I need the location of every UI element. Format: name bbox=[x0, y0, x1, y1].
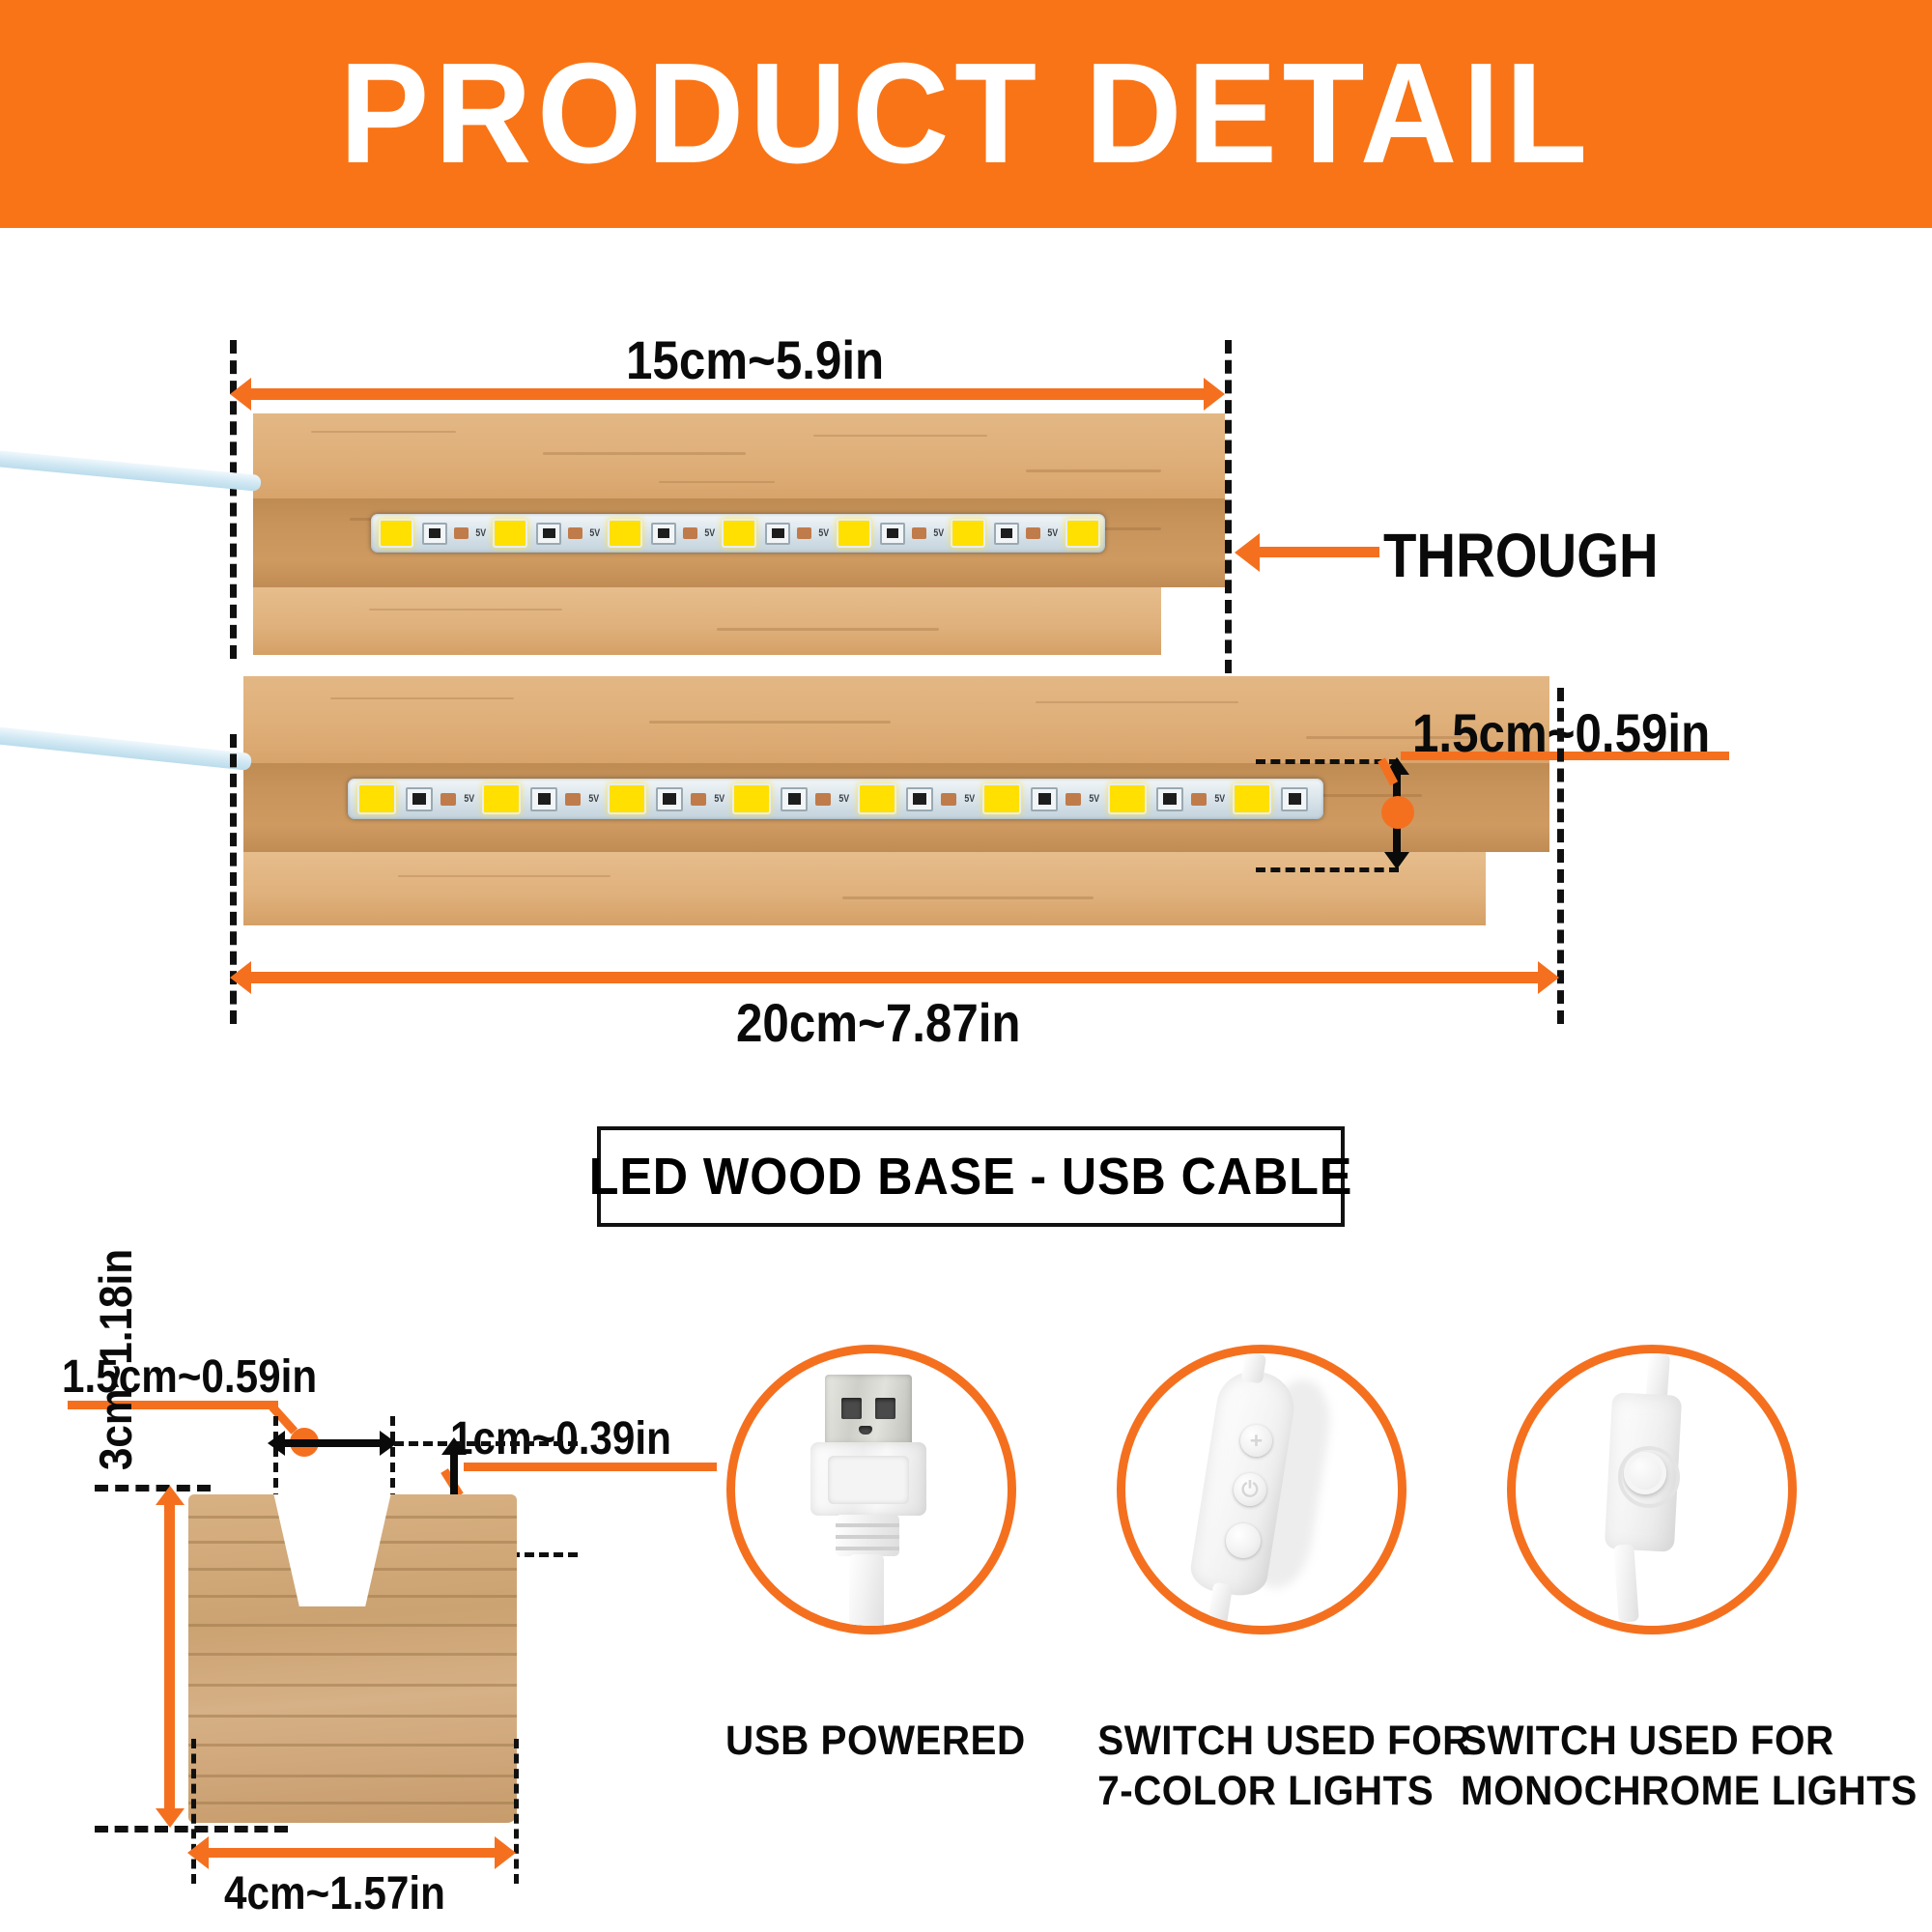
dimension-arrow-height bbox=[164, 1503, 175, 1810]
guide-groove-left bbox=[273, 1416, 278, 1503]
dimension-label-depth-1cm: 1cm~0.39in bbox=[450, 1412, 671, 1465]
leader-dot-groove-depth bbox=[1381, 796, 1414, 829]
dimension-label-top-length: 15cm~5.9in bbox=[626, 328, 884, 391]
dimension-arrow-bottom-length bbox=[249, 972, 1540, 983]
switch-button-ring bbox=[1618, 1446, 1680, 1508]
color-mode-button[interactable] bbox=[1226, 1523, 1261, 1558]
wood-grain-top bbox=[253, 413, 1225, 498]
dimension-label-width: 4cm~1.57in bbox=[224, 1867, 445, 1920]
switch-cord-bottom bbox=[1613, 1544, 1639, 1622]
plus-icon: + bbox=[1240, 1425, 1272, 1457]
guide-line-right-top bbox=[1225, 340, 1232, 673]
usb-contact-slot-left bbox=[841, 1398, 862, 1419]
feature-circle-monochrome bbox=[1507, 1345, 1797, 1634]
feature-circle-7color: + ⏻ bbox=[1117, 1345, 1406, 1634]
usb-cord bbox=[849, 1554, 884, 1632]
dimension-arrow-groove-width bbox=[282, 1439, 383, 1447]
caption-box: LED WOOD BASE - USB CABLE bbox=[597, 1126, 1345, 1227]
wood-board-top-view: 5V 5V 5V 5V 5V 5V bbox=[253, 413, 1225, 655]
guide-depth-bottom bbox=[1256, 867, 1399, 872]
usb-cable-top bbox=[0, 450, 262, 492]
wood-board-bottom-view: 5V 5V 5V 5V 5V 5V 5V bbox=[243, 676, 1549, 925]
through-arrow-head bbox=[1235, 533, 1260, 572]
board2-front-lip bbox=[243, 852, 1486, 925]
dimension-label-bottom-length: 20cm~7.87in bbox=[736, 991, 1021, 1054]
dimension-arrow-width bbox=[207, 1848, 497, 1858]
board2-top-face bbox=[243, 676, 1549, 763]
wood-grain-2-lip bbox=[243, 852, 1486, 925]
controller-cord-top bbox=[1241, 1351, 1266, 1383]
dimension-arrow-top-length bbox=[249, 388, 1206, 400]
led-strip-top: 5V 5V 5V 5V 5V 5V bbox=[371, 514, 1105, 553]
guide-depth1-top bbox=[394, 1441, 578, 1446]
usb-housing-inset bbox=[828, 1456, 909, 1504]
groove-notch bbox=[273, 1494, 391, 1606]
power-icon: ⏻ bbox=[1234, 1473, 1266, 1506]
dimension-label-height: 3cm~1.18in bbox=[89, 1216, 142, 1503]
wood-cross-section-block bbox=[188, 1494, 517, 1823]
header-banner: PRODUCT DETAIL bbox=[0, 0, 1932, 228]
wood-grain-lip bbox=[253, 587, 1161, 655]
guide-groove-right bbox=[390, 1416, 395, 1503]
usb-strain-relief bbox=[836, 1515, 899, 1556]
page-title: PRODUCT DETAIL bbox=[339, 43, 1592, 185]
feature-circle-usb bbox=[726, 1345, 1016, 1634]
through-arrow-line bbox=[1256, 547, 1379, 557]
feature-caption-usb: USB POWERED bbox=[717, 1716, 1009, 1766]
wood-grain-2-top bbox=[243, 676, 1549, 763]
through-label: THROUGH bbox=[1383, 520, 1659, 591]
board-top-face bbox=[253, 413, 1225, 498]
feature-caption-monochrome: SWITCH USED FOR MONOCHROME LIGHTS bbox=[1449, 1716, 1837, 1817]
board-front-lip bbox=[253, 587, 1161, 655]
usb-contact-slot-right bbox=[875, 1398, 895, 1419]
feature-caption-7color: SWITCH USED FOR 7-COLOR LIGHTS bbox=[1088, 1716, 1418, 1817]
caption-box-label: LED WOOD BASE - USB CABLE bbox=[589, 1147, 1353, 1207]
led-strip-bottom: 5V 5V 5V 5V 5V 5V 5V bbox=[348, 779, 1323, 819]
usb-cable-bottom bbox=[0, 726, 252, 771]
